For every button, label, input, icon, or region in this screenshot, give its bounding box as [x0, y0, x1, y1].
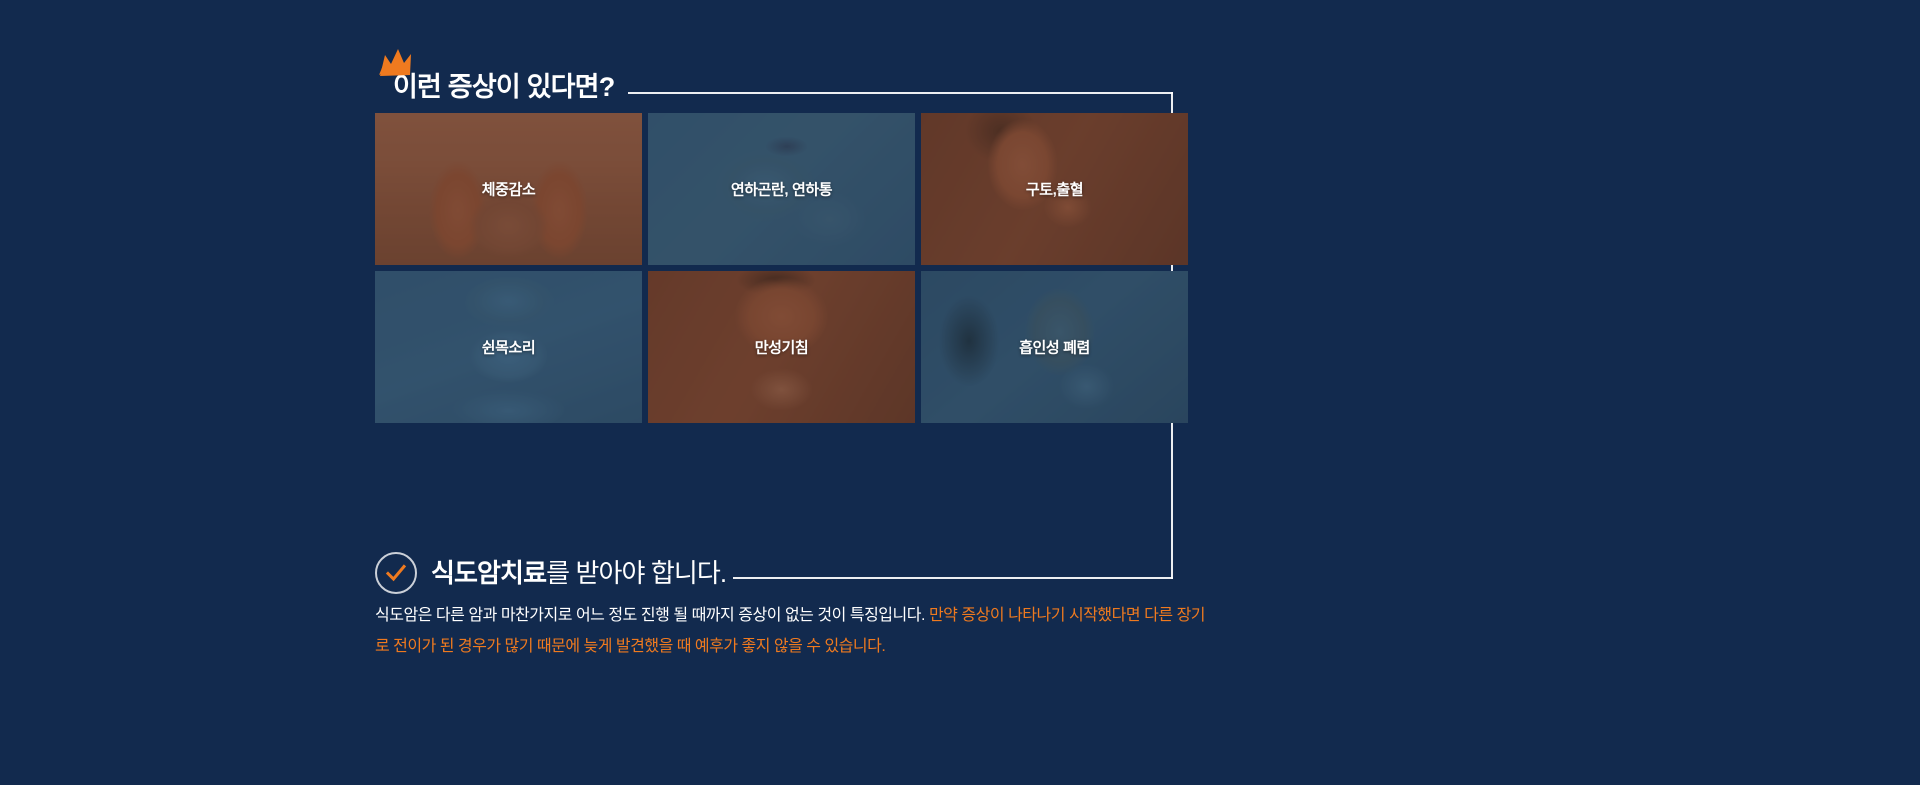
- symptom-tile-label: 쉰목소리: [375, 337, 642, 358]
- check-circle-icon: [375, 552, 417, 594]
- symptom-tile-row: 쉰목소리 만성기침 흡인성 폐렴: [375, 271, 1220, 423]
- symptom-tile-grid: 체중감소 연하곤란, 연하통 구토,출혈: [375, 113, 1220, 423]
- burst-crown-icon: [377, 45, 419, 85]
- body-plain-text: 식도암은 다른 암과 마찬가지로 어느 정도 진행 될 때까지 증상이 없는 것…: [375, 607, 929, 624]
- content-stage: 이런 증상이 있다면? 체중감소 연하곤란, 연하통: [375, 0, 1375, 785]
- symptom-tile[interactable]: 체중감소: [375, 113, 642, 265]
- symptoms-section-header: 이런 증상이 있다면?: [375, 55, 614, 101]
- bracket-bottom-line: [733, 577, 1173, 579]
- symptom-tile-label: 흡인성 폐렴: [921, 337, 1188, 358]
- symptom-tile-label: 체중감소: [375, 179, 642, 200]
- symptom-tile-row: 체중감소 연하곤란, 연하통 구토,출혈: [375, 113, 1220, 265]
- symptom-tile-label: 구토,출혈: [921, 179, 1188, 200]
- treatment-title-strong: 식도암치료: [431, 558, 546, 588]
- symptom-tile[interactable]: 쉰목소리: [375, 271, 642, 423]
- treatment-body-copy: 식도암은 다른 암과 마찬가지로 어느 정도 진행 될 때까지 증상이 없는 것…: [375, 600, 1205, 662]
- page-root: 이런 증상이 있다면? 체중감소 연하곤란, 연하통: [0, 0, 1920, 785]
- symptom-tile-label: 연하곤란, 연하통: [648, 179, 915, 200]
- treatment-section-header: 식도암치료를 받아야 합니다.: [375, 552, 726, 594]
- symptom-tile[interactable]: 구토,출혈: [921, 113, 1188, 265]
- treatment-section-title: 식도암치료를 받아야 합니다.: [431, 560, 726, 586]
- check-icon: [384, 561, 408, 585]
- bracket-top-line: [628, 92, 1173, 94]
- symptom-tile[interactable]: 만성기침: [648, 271, 915, 423]
- symptom-tile[interactable]: 흡인성 폐렴: [921, 271, 1188, 423]
- symptom-tile-label: 만성기침: [648, 337, 915, 358]
- treatment-title-rest: 를 받아야 합니다.: [546, 558, 726, 588]
- symptom-tile[interactable]: 연하곤란, 연하통: [648, 113, 915, 265]
